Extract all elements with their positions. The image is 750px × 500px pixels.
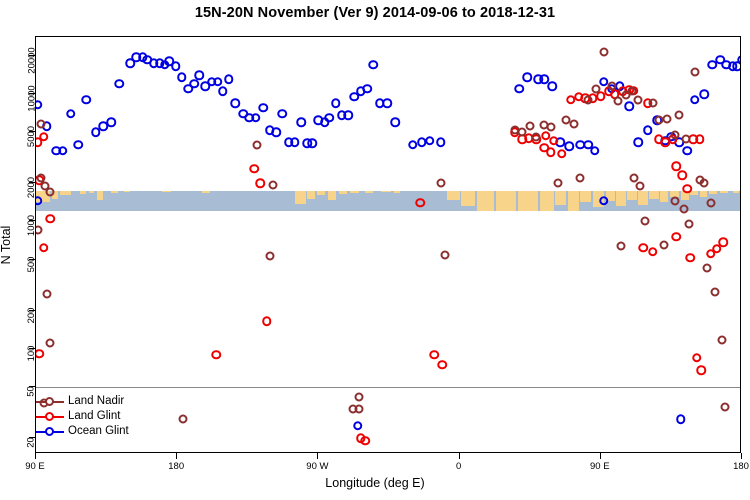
map-landmass <box>447 191 460 200</box>
map-landmass <box>616 191 625 207</box>
data-point <box>343 111 353 121</box>
data-point <box>526 122 535 131</box>
data-point <box>369 60 379 70</box>
map-landmass <box>328 191 336 200</box>
data-point <box>720 403 729 412</box>
data-point <box>670 196 679 205</box>
data-point <box>634 137 644 147</box>
data-point <box>436 179 445 188</box>
data-point <box>532 132 541 141</box>
map-landmass <box>638 191 647 206</box>
data-point <box>46 188 55 197</box>
chart-title: 15N-20N November (Ver 9) 2014-09-06 to 2… <box>0 5 750 21</box>
data-point <box>624 102 634 112</box>
data-point <box>648 247 658 257</box>
data-point <box>296 118 306 128</box>
data-point <box>629 173 638 182</box>
map-landmass <box>111 191 117 193</box>
map-landmass <box>496 191 516 212</box>
legend-label: Land Glint <box>68 410 120 422</box>
data-point <box>648 99 657 108</box>
data-point <box>549 136 559 146</box>
data-point <box>218 87 228 97</box>
data-point <box>58 146 68 156</box>
data-point <box>36 120 45 129</box>
x-axis-tick-label: 90 E <box>25 461 45 472</box>
data-point <box>408 140 418 150</box>
data-point <box>74 140 84 150</box>
data-point <box>546 123 555 132</box>
map-landmass <box>89 191 94 193</box>
data-point <box>39 243 49 253</box>
data-point <box>262 316 272 326</box>
x-axis-tick <box>35 453 36 459</box>
map-landmass <box>709 191 717 194</box>
data-point <box>278 109 288 119</box>
data-point <box>436 137 446 147</box>
data-point <box>268 180 277 189</box>
data-point <box>640 217 649 226</box>
map-landmass <box>720 191 728 193</box>
data-point <box>391 118 401 128</box>
data-point <box>514 84 524 94</box>
data-point <box>290 137 300 147</box>
data-point <box>35 226 42 235</box>
data-point <box>614 97 623 106</box>
data-point <box>706 198 715 207</box>
data-point <box>675 111 684 120</box>
map-landmass <box>733 191 739 194</box>
data-point <box>684 220 693 229</box>
data-point <box>265 251 274 260</box>
data-point <box>700 179 709 188</box>
data-point <box>224 75 234 85</box>
data-point <box>362 84 372 94</box>
data-point <box>66 109 76 119</box>
legend-marker-icon <box>45 397 54 406</box>
legend-item[interactable]: Ocean Glint <box>34 424 129 439</box>
legend-label: Land Nadir <box>68 395 124 407</box>
map-landmass <box>518 191 538 212</box>
data-point <box>271 128 281 138</box>
map-landmass <box>80 191 86 194</box>
map-landmass <box>649 191 658 199</box>
data-point <box>681 135 690 144</box>
data-point <box>659 241 668 250</box>
data-point <box>678 171 688 181</box>
map-landmass <box>317 191 325 196</box>
data-point <box>695 135 705 145</box>
data-point <box>425 136 435 146</box>
data-point <box>190 79 200 89</box>
data-point <box>441 250 450 259</box>
data-point <box>696 366 706 376</box>
data-point <box>256 178 266 188</box>
x-axis-title: Longitude (deg E) <box>0 476 750 490</box>
data-point <box>717 335 726 344</box>
data-point <box>570 120 579 129</box>
y-axis-tick-labels: 20501002005001000200050001000020000 <box>0 36 35 453</box>
map-landmass <box>540 191 554 212</box>
legend-marker-icon <box>45 412 54 421</box>
data-point <box>546 147 556 157</box>
data-point <box>718 237 728 247</box>
data-point <box>690 67 699 76</box>
legend-label: Ocean Glint <box>68 425 129 437</box>
data-point <box>679 205 688 214</box>
data-point <box>383 98 393 108</box>
data-point <box>438 360 448 370</box>
x-axis-tick-label: 180 <box>168 461 184 472</box>
data-point <box>213 77 223 87</box>
data-point <box>628 87 637 96</box>
data-point <box>518 128 527 137</box>
data-point <box>638 243 648 253</box>
data-point <box>554 179 563 188</box>
legend: Land NadirLand GlintOcean Glint <box>34 394 129 439</box>
data-point <box>592 84 601 93</box>
x-axis-tick <box>176 453 177 459</box>
data-point <box>353 421 363 431</box>
data-point <box>711 287 720 296</box>
data-point <box>355 392 364 401</box>
data-point <box>700 89 710 99</box>
map-landmass <box>295 191 306 205</box>
map-landmass <box>350 191 359 193</box>
x-axis-tick <box>741 453 742 459</box>
data-point <box>737 55 741 65</box>
data-point <box>547 82 557 92</box>
data-point <box>230 98 240 108</box>
map-landmass <box>339 191 347 194</box>
data-point <box>307 139 317 149</box>
x-axis-tick-label: 180 <box>733 461 749 472</box>
x-axis-tick-label: 90 E <box>590 461 610 472</box>
data-point <box>692 353 702 363</box>
data-point <box>703 264 712 273</box>
data-point <box>584 95 593 104</box>
data-point <box>325 113 335 123</box>
map-landmass <box>627 191 636 200</box>
data-point <box>557 149 567 159</box>
data-point <box>177 73 187 83</box>
data-point <box>331 98 341 108</box>
data-point <box>107 118 117 128</box>
data-point <box>251 113 261 123</box>
data-canvas <box>36 37 740 452</box>
legend-item[interactable]: Land Nadir <box>34 394 129 409</box>
data-point <box>35 100 42 110</box>
data-point <box>361 436 371 446</box>
data-point <box>662 114 671 123</box>
data-point <box>599 196 609 206</box>
data-point <box>643 125 653 135</box>
data-point <box>212 350 222 360</box>
x-axis-tick <box>317 453 318 459</box>
legend-marker-icon <box>45 427 54 436</box>
data-point <box>590 146 600 156</box>
data-point <box>576 173 585 182</box>
map-landmass <box>555 191 566 206</box>
data-point <box>416 198 426 208</box>
map-landmass <box>124 191 130 193</box>
map-landmass <box>477 191 494 212</box>
plot-area <box>35 36 741 453</box>
data-point <box>35 349 44 359</box>
data-point <box>685 253 695 263</box>
map-landmass <box>60 191 71 195</box>
x-axis-tick <box>459 453 460 459</box>
map-landmass <box>660 191 668 202</box>
x-axis-tick-label: 0 <box>456 461 461 472</box>
map-landmass <box>394 191 400 193</box>
map-landmass <box>365 191 373 194</box>
data-point <box>39 132 49 142</box>
data-point <box>81 95 91 105</box>
data-point <box>249 164 259 174</box>
data-point <box>671 232 681 242</box>
data-point <box>634 95 643 104</box>
data-point <box>355 404 364 413</box>
map-landmass <box>461 191 475 207</box>
data-point <box>45 214 55 224</box>
legend-item[interactable]: Land Glint <box>34 409 129 424</box>
x-axis-tick-label: 90 W <box>306 461 328 472</box>
data-point <box>171 62 181 72</box>
data-point <box>682 184 692 194</box>
data-point <box>46 338 55 347</box>
data-point <box>599 47 608 56</box>
x-axis-tick <box>600 453 601 459</box>
data-point <box>194 71 204 81</box>
data-point <box>179 415 188 424</box>
data-point <box>259 103 269 113</box>
data-point <box>670 130 679 139</box>
map-landmass <box>580 191 591 202</box>
map-landmass <box>700 191 708 197</box>
reference-line <box>36 387 740 388</box>
map-landmass <box>381 191 390 192</box>
data-point <box>676 415 686 425</box>
map-landmass <box>202 191 210 193</box>
data-point <box>617 242 626 251</box>
map-landmass <box>97 191 103 200</box>
chart-root: 15N-20N November (Ver 9) 2014-09-06 to 2… <box>0 0 750 500</box>
map-landmass <box>162 191 171 192</box>
data-point <box>253 140 262 149</box>
data-point <box>690 95 700 105</box>
map-landmass <box>307 191 315 199</box>
map-landmass <box>568 191 579 212</box>
data-point <box>671 162 681 172</box>
data-point <box>35 196 42 206</box>
data-point <box>114 79 124 89</box>
data-point <box>565 141 575 151</box>
data-point <box>42 289 51 298</box>
data-point <box>636 181 645 190</box>
data-point <box>522 73 532 83</box>
data-point <box>430 350 440 360</box>
data-point <box>682 146 692 156</box>
data-point <box>607 82 616 91</box>
